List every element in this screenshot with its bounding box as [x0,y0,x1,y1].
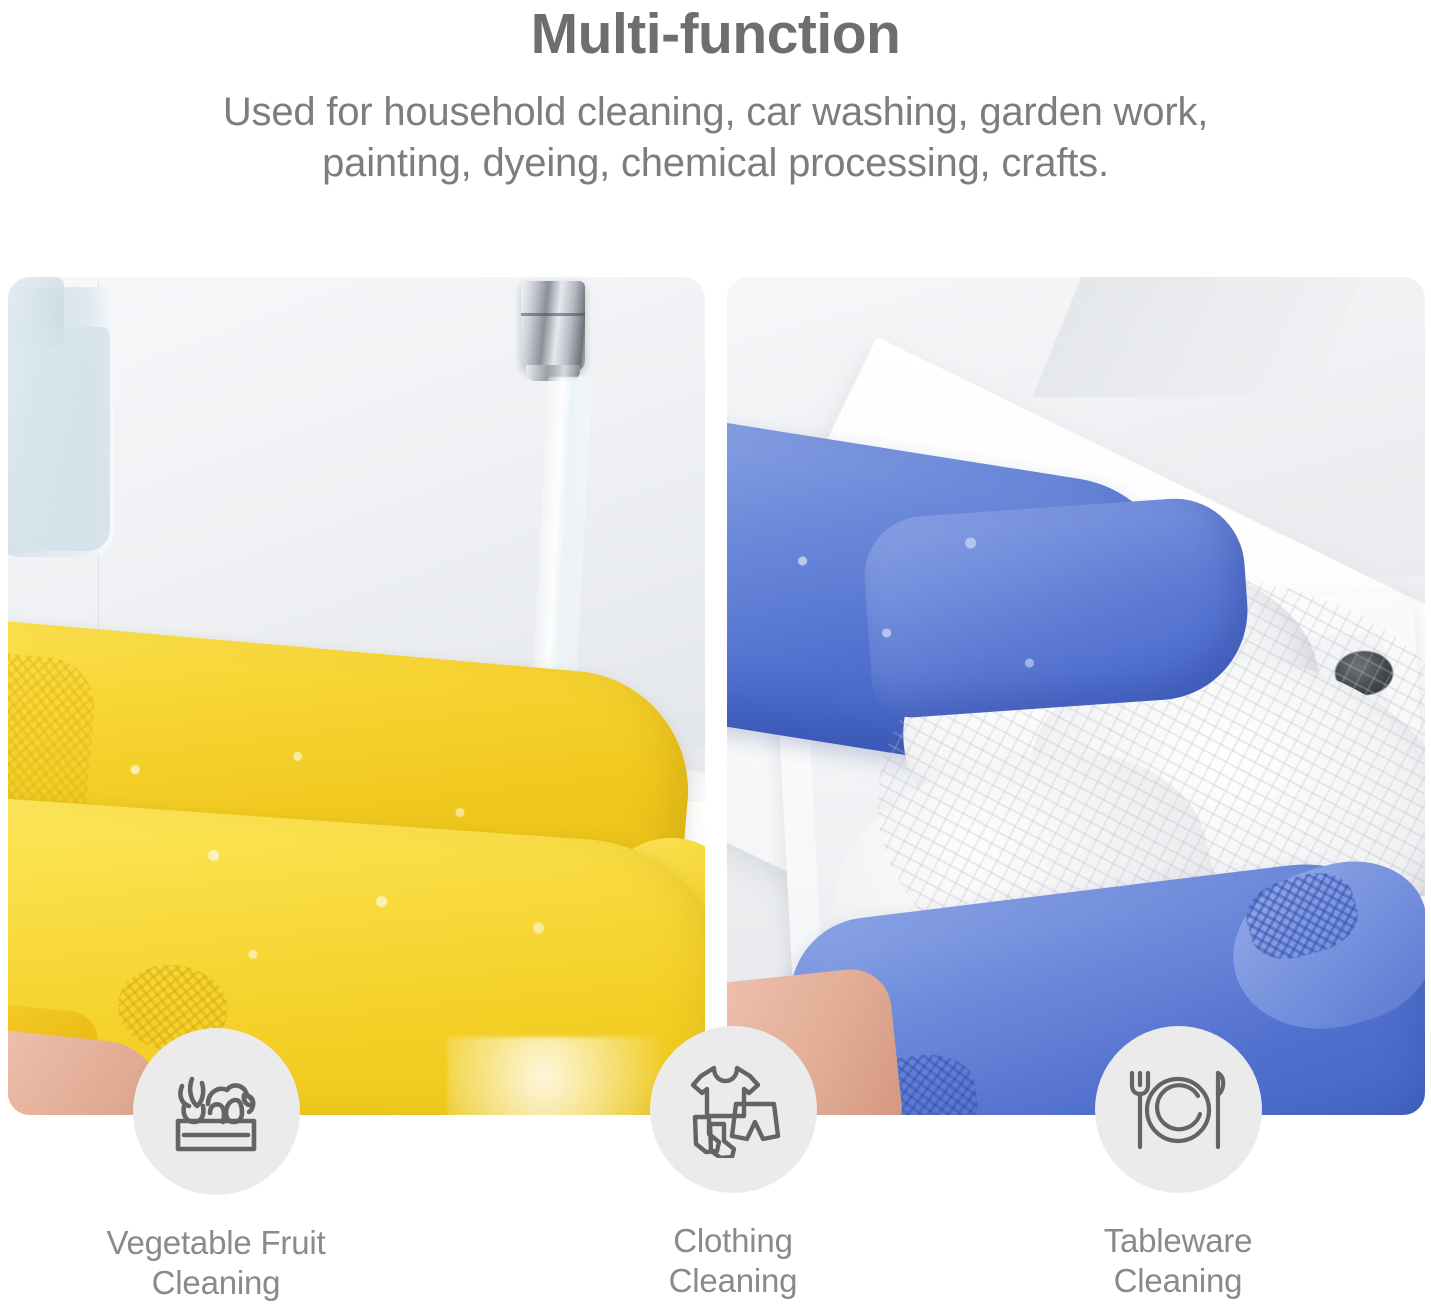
vegetable-fruit-washing-photo [8,277,705,1115]
feature-label-line-1: Tableware [1104,1222,1253,1259]
header: Multi-function Used for household cleani… [0,0,1431,189]
page-subtitle: Used for household cleaning, car washing… [0,63,1431,189]
subtitle-line-1: Used for household cleaning, car washing… [223,90,1208,134]
feature-label-line-1: Vegetable Fruit [107,1224,326,1261]
forearm [727,965,906,1115]
product-feature-banner: Multi-function Used for household cleani… [0,0,1431,1289]
feature-label-line-2: Cleaning [1028,1261,1328,1301]
wall-highlight [1033,277,1361,397]
page-title: Multi-function [0,0,1431,63]
bottle-water [8,327,110,551]
glass-bottle [8,287,114,557]
feature-label-line-1: Clothing [673,1222,792,1259]
feature-label: Vegetable Fruit Cleaning [66,1223,366,1304]
faucet [521,281,585,371]
feature-label-line-2: Cleaning [583,1261,883,1301]
water-splash [448,1037,688,1115]
feature-label: Tableware Cleaning [1028,1221,1328,1302]
water-droplets [727,477,1147,777]
water-droplets [68,697,628,1027]
photo-gallery [0,277,1431,1115]
feature-label-line-2: Cleaning [66,1263,366,1303]
feature-label: Clothing Cleaning [583,1221,883,1302]
laundry-washing-photo [727,277,1425,1115]
subtitle-line-2: painting, dyeing, chemical processing, c… [0,138,1431,189]
